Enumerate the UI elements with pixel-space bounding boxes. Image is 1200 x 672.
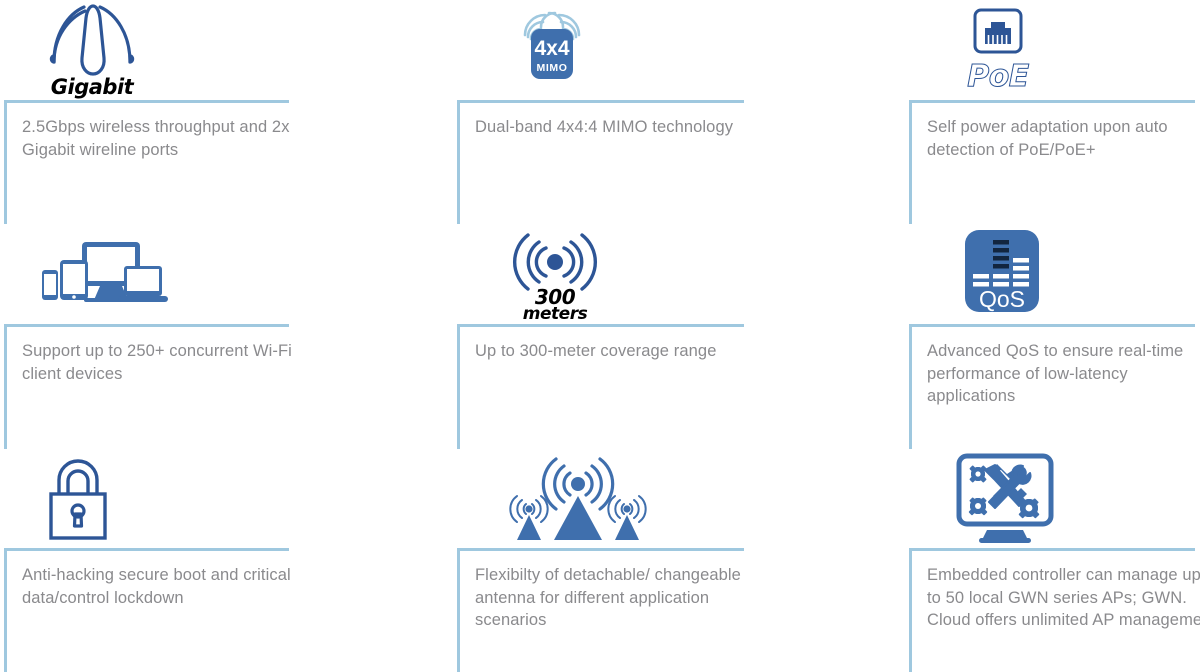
- icon-area: 4x4 MIMO: [477, 0, 737, 100]
- mimo-4x4-icon: 4x4 MIMO: [503, 7, 601, 93]
- feature-text: Up to 300-meter coverage range: [475, 340, 760, 363]
- gigabit-wing-icon: Gigabit: [38, 4, 146, 96]
- divider-vertical: [4, 325, 7, 449]
- mimo-icon-caption: 4x4: [534, 37, 569, 60]
- icon-area: PoE: [929, 0, 1189, 100]
- divider-horizontal: [909, 548, 1195, 551]
- icon-area: [929, 448, 1189, 548]
- feature-text: Support up to 250+ concurrent Wi-Fi clie…: [22, 340, 307, 385]
- divider-vertical: [4, 548, 7, 672]
- feature-text: Embedded controller can manage up to 50 …: [927, 564, 1200, 632]
- icon-area: [24, 224, 284, 324]
- feature-card-secure-boot: Anti-hacking secure boot and critical da…: [0, 448, 453, 672]
- feature-card-client-capacity: Support up to 250+ concurrent Wi-Fi clie…: [0, 224, 453, 448]
- feature-text: Flexibilty of detachable/ changeable ant…: [475, 564, 760, 632]
- padlock-icon: [38, 454, 118, 542]
- signal-center-dot: [547, 254, 563, 270]
- poe-icon-caption: PoE: [967, 59, 1030, 94]
- feature-card-gigabit-throughput: Gigabit 2.5Gbps wireless throughput and …: [0, 0, 453, 224]
- divider-horizontal: [4, 548, 289, 551]
- feature-card-detachable-antenna: Flexibilty of detachable/ changeable ant…: [453, 448, 905, 672]
- divider-vertical: [457, 548, 460, 672]
- feature-text: Anti-hacking secure boot and critical da…: [22, 564, 307, 609]
- divider-horizontal: [4, 100, 289, 103]
- feature-card-qos: QoS Advanced QoS to ensure real-time per…: [905, 224, 1200, 448]
- icon-area: QoS: [929, 224, 1189, 324]
- feature-text: Advanced QoS to ensure real-time perform…: [927, 340, 1200, 408]
- divider-vertical: [909, 325, 912, 449]
- icon-area: 300 meters: [477, 224, 737, 324]
- icon-area: [477, 448, 737, 548]
- feature-card-poe: PoE Self power adaptation upon auto dete…: [905, 0, 1200, 224]
- divider-horizontal: [457, 324, 744, 327]
- qos-equalizer-icon: QoS: [951, 228, 1047, 320]
- feature-text: Self power adaptation upon auto detectio…: [927, 116, 1200, 161]
- divider-vertical: [457, 325, 460, 449]
- divider-horizontal: [457, 548, 744, 551]
- feature-card-mimo: 4x4 MIMO Dual-band 4x4:4 MIMO technology: [453, 0, 905, 224]
- icon-area: [24, 448, 284, 548]
- mimo-icon-subcaption: MIMO: [537, 62, 568, 74]
- feature-text: Dual-band 4x4:4 MIMO technology: [475, 116, 760, 139]
- divider-vertical: [909, 548, 912, 672]
- divider-vertical: [457, 100, 460, 224]
- icon-area: Gigabit: [24, 0, 284, 100]
- poe-ethernet-port-icon: PoE: [951, 6, 1047, 94]
- divider-horizontal: [4, 324, 289, 327]
- feature-card-embedded-controller: Embedded controller can manage up to 50 …: [905, 448, 1200, 672]
- feature-grid: Gigabit 2.5Gbps wireless throughput and …: [0, 0, 1200, 672]
- qos-icon-caption: QoS: [979, 286, 1025, 312]
- feature-card-coverage-range: 300 meters Up to 300-meter coverage rang…: [453, 224, 905, 448]
- divider-horizontal: [909, 100, 1195, 103]
- gigabit-icon-caption: Gigabit: [51, 75, 135, 99]
- signal-range-icon: 300 meters: [503, 228, 607, 320]
- divider-vertical: [909, 100, 912, 224]
- range-icon-subcaption: meters: [523, 304, 588, 324]
- antenna-towers-icon: [503, 452, 653, 544]
- monitor-tools-icon: [951, 452, 1059, 544]
- divider-horizontal: [909, 324, 1195, 327]
- feature-text: 2.5Gbps wireless throughput and 2x Gigab…: [22, 116, 307, 161]
- divider-vertical: [4, 100, 7, 224]
- divider-horizontal: [457, 100, 744, 103]
- multi-device-icon: [38, 238, 168, 310]
